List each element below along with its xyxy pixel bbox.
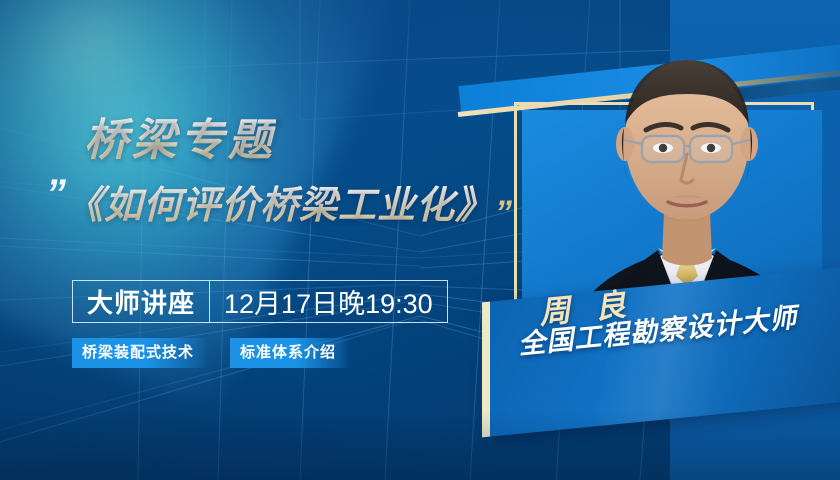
subtitle-row: ” 《如何评价桥梁工业化》 ” <box>46 174 509 229</box>
topic-tag-list: 桥梁装配式技术 标准体系介绍 <box>72 338 350 368</box>
webinar-poster: 桥梁专题 ” 《如何评价桥梁工业化》 ” 大师讲座 12月17日晚19:30 桥… <box>0 0 840 480</box>
speaker-composition: 周 良 全国工程勘察设计大师 <box>470 0 840 480</box>
page-title: 桥梁专题 <box>84 104 276 168</box>
topic-tag: 桥梁装配式技术 <box>72 338 208 368</box>
lecture-info-bar: 大师讲座 12月17日晚19:30 <box>72 280 448 323</box>
topic-tag: 标准体系介绍 <box>230 338 350 368</box>
lecture-datetime-label: 12月17日晚19:30 <box>210 281 447 322</box>
quote-open-icon: ” <box>46 176 63 212</box>
page-subtitle: 《如何评价桥梁工业化》 <box>65 174 494 229</box>
lecture-kind-label: 大师讲座 <box>73 281 209 322</box>
